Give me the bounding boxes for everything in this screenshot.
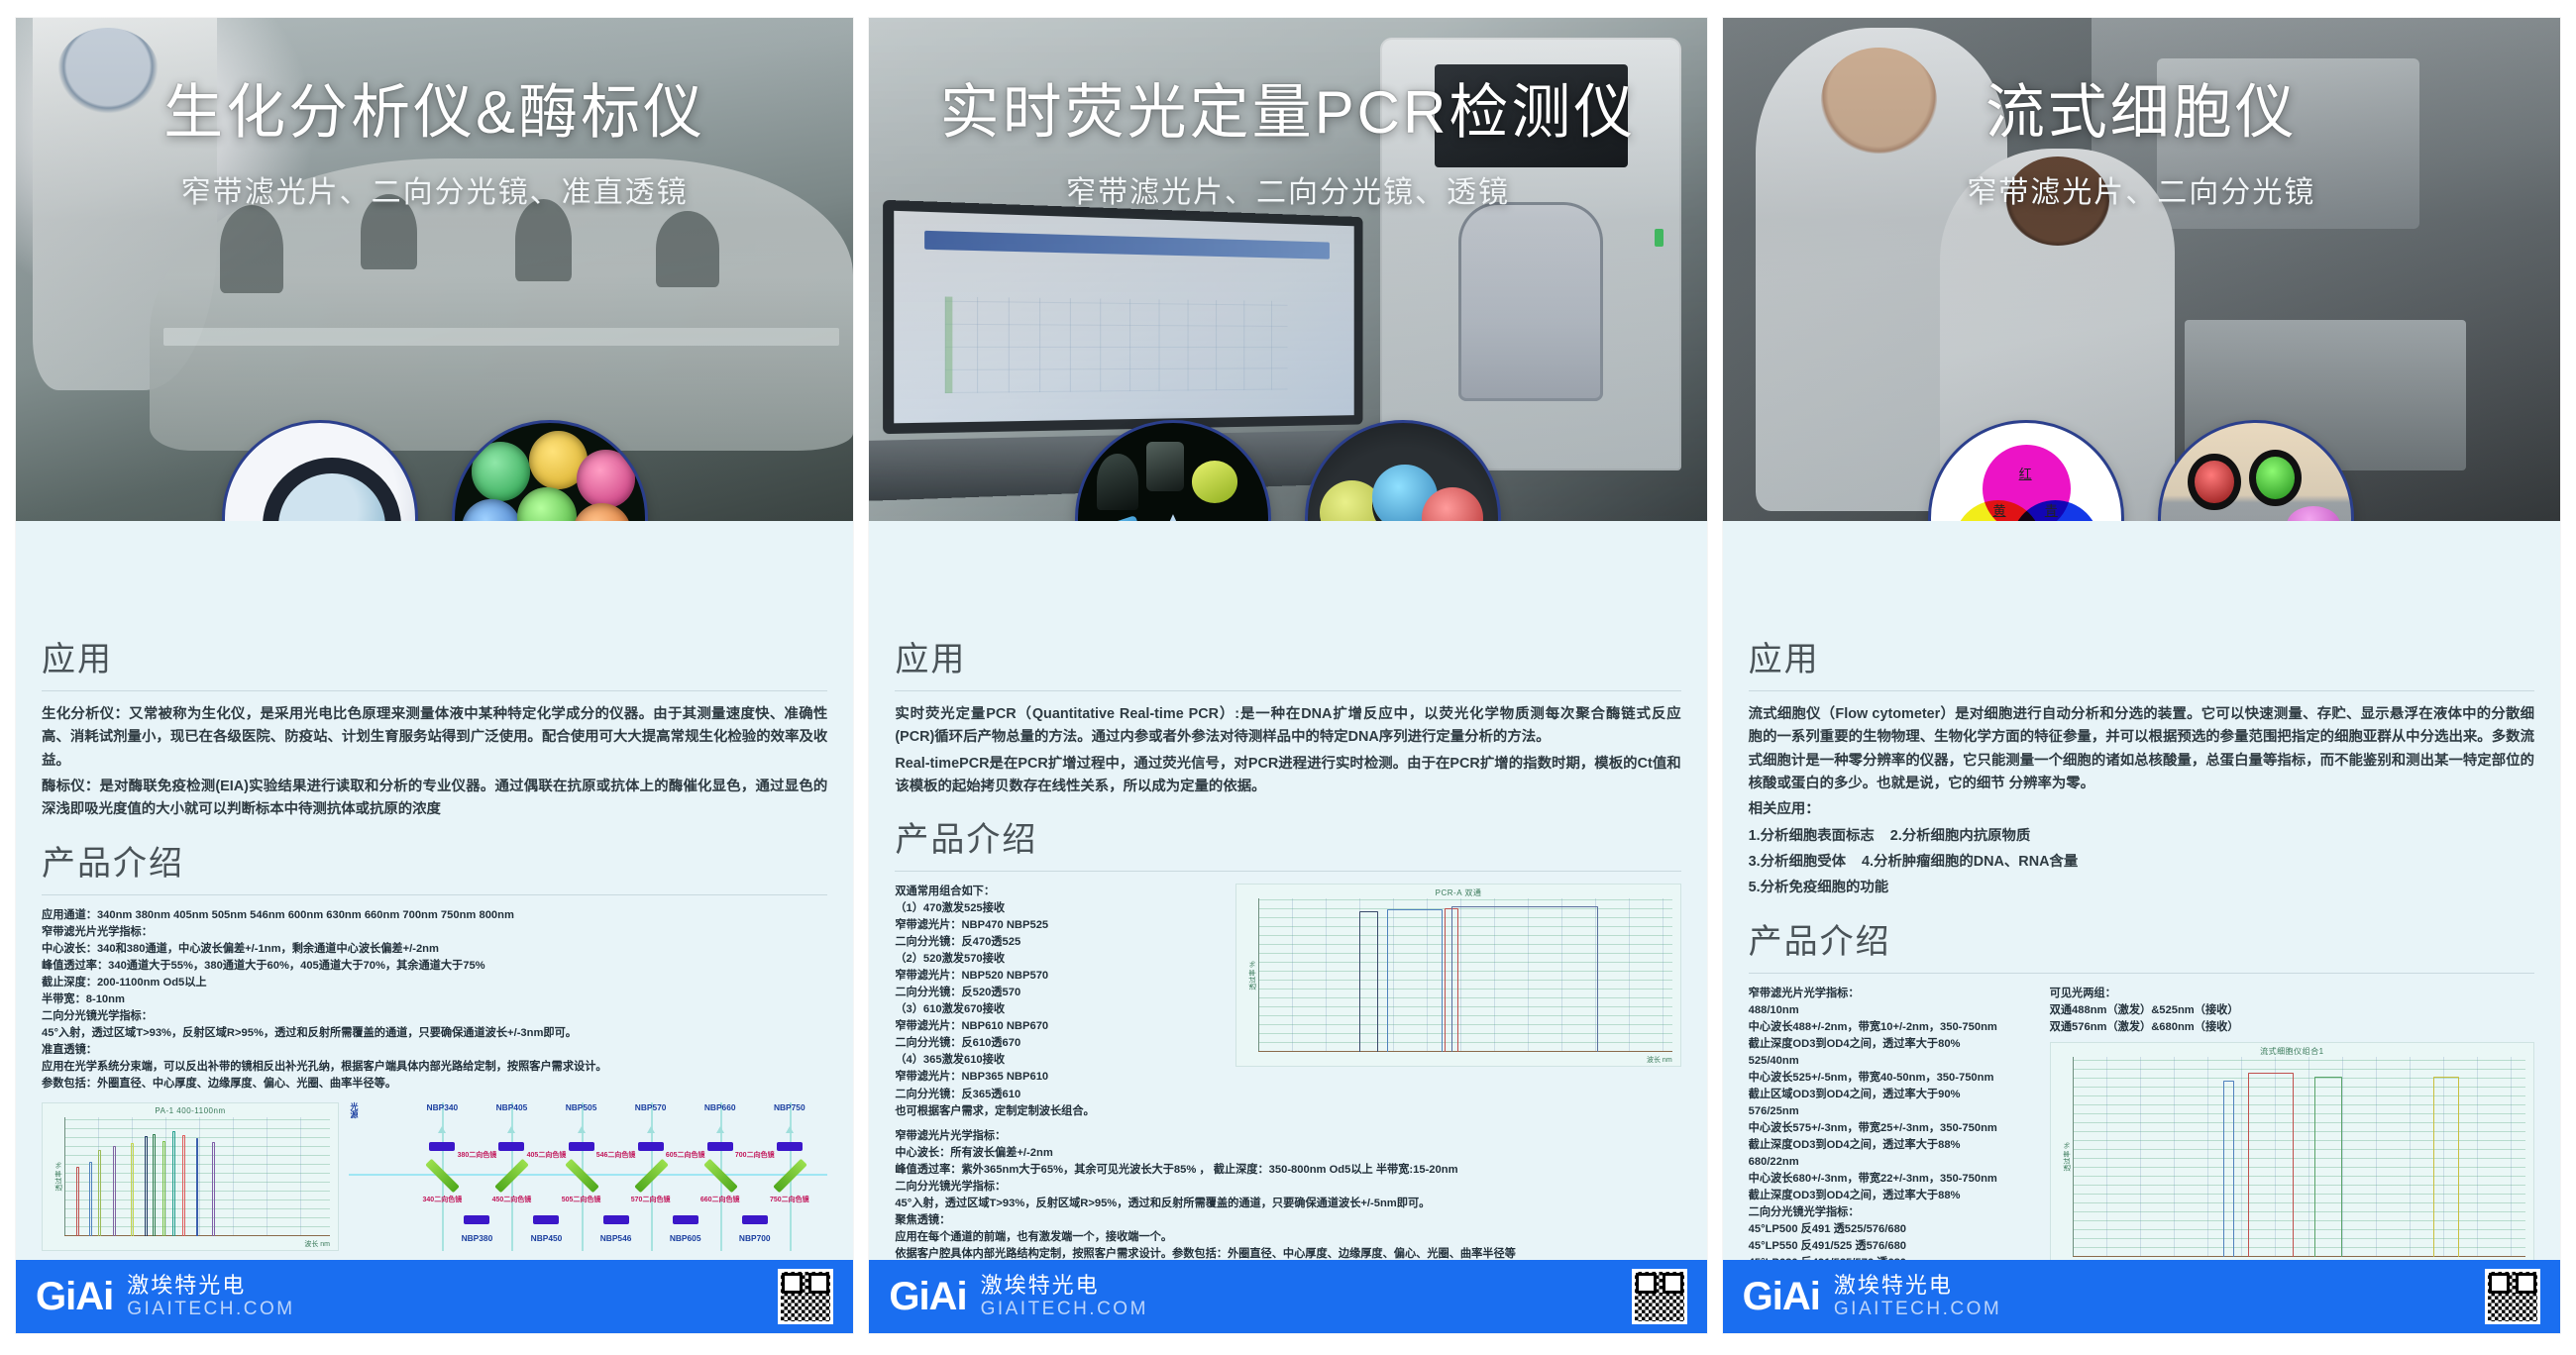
chart-peak [196, 1138, 199, 1235]
transmission-spectrum-chart: PA-1 400-1100nm 透过率 % 波长 nm [42, 1102, 339, 1251]
spec-line: 双通常用组合如下： [895, 884, 1222, 900]
panel-title: 生化分析仪&酶标仪 [40, 79, 829, 146]
poster-stage: 生化分析仪&酶标仪 窄带滤光片、二向分光镜、准直透镜 应用 生化分析仪：又常被称… [0, 0, 2576, 1355]
beam-arrow-icon [578, 1126, 586, 1133]
chart-y-axis [2073, 1057, 2074, 1257]
chart-plot-area [1258, 898, 1671, 1052]
hero-flow-cytometer: 流式细胞仪 窄带滤光片、二向分光镜 红 绿 蓝 黄 青 白 [1723, 18, 2560, 521]
brand-logo: GiAi 激埃特光电 GIAITECH.COM [889, 1274, 1148, 1319]
rgb-venn-diagram: 红 绿 蓝 黄 青 白 [1951, 442, 2103, 521]
chart-y-axis [1258, 898, 1259, 1052]
spec-line: 双通488nm（激发）&525nm（接收） [2050, 1002, 2534, 1019]
spec-line: 窄带滤光片光学指标： [1749, 986, 2036, 1002]
chart-plot-area [64, 1117, 330, 1236]
spec-line: 二向分光镜：反610透670 [895, 1035, 1222, 1052]
channel-label-top: NBP340 [427, 1102, 459, 1112]
panel-body-pcr: 应用 实时荧光定量PCR（Quantitative Real-time PCR）… [869, 521, 1706, 1260]
product-heading: 产品介绍 [42, 836, 827, 885]
product-circle-photos [869, 420, 1706, 521]
list-item: 1.分析细胞表面标志 2.分析细胞内抗原物质 [1749, 825, 2534, 848]
spec-line: 45°入射，透过区域T>93%，反射区域R>95%，透过和反射所需覆盖的通道，只… [42, 1025, 827, 1042]
chart-ylabel: 透过率 % [54, 1162, 64, 1191]
spec-line: 双通576nm（激发）&680nm（接收） [2050, 1019, 2534, 1036]
spec-line: 半带宽：8-10nm [42, 991, 827, 1008]
narrowband-filter-block [673, 1215, 698, 1224]
qr-code[interactable] [778, 1269, 833, 1324]
narrowband-filter-block [777, 1142, 803, 1151]
spec-line: 峰值透过率：紫外365nm大于65%，其余可见光波长大于85% ， 截止深度：3… [895, 1162, 1680, 1179]
dichroic-mirror-label: 450二向色镜 [492, 1195, 532, 1204]
divider [895, 871, 1680, 872]
beam-arrow-icon [647, 1126, 655, 1133]
spec-line: 应用在每个通道的前端，也有激发端一个，接收端一个。 [895, 1229, 1680, 1246]
spec-list-pcr: 双通常用组合如下：（1）470激发525接收窄带滤光片：NBP470 NBP52… [895, 884, 1222, 1119]
beam-arrow-icon [716, 1126, 724, 1133]
brand-logo: GiAi 激埃特光电 GIAITECH.COM [1743, 1274, 2002, 1319]
spec-line: 576/25nm [1749, 1103, 2036, 1120]
divider [895, 690, 1680, 691]
spec-line: 应用在光学系统分束端，可以反出补带的镜相反出补光孔纳，根据客户端具体内部光路给定… [42, 1059, 827, 1076]
spec-line: 中心波长680+/-3nm，带宽22+/-3nm，350-750nm [1749, 1171, 2036, 1188]
chart-peak [113, 1146, 116, 1236]
chart-title: PCR-A 双通 [1236, 887, 1679, 898]
spec-line: 参数包括：外圈直径、中心厚度、边缘厚度、偏心、光圈、曲率半径等。 [42, 1076, 827, 1093]
product-photo-rgb-venn: 红 绿 蓝 黄 青 白 [1928, 420, 2124, 521]
spec-line: 窄带滤光片：NBP520 NBP570 [895, 968, 1222, 985]
dichroic-mirror-label: 750二向色镜 [770, 1195, 809, 1204]
spec-line: 中心波长：340和380通道，中心波长偏差+/-1nm，剩余通道中心波长偏差+/… [42, 941, 827, 958]
chart-title: PA-1 400-1100nm [43, 1106, 338, 1115]
chart-xlabel: 波长 nm [1647, 1055, 1672, 1065]
narrowband-filter-block [533, 1215, 559, 1224]
application-paragraph: Real-timePCR是在PCR扩增过程中，通过荧光信号，对PCR进程进行实时… [895, 753, 1680, 799]
chart-ylabel: 透过率 % [1248, 961, 1258, 990]
spec-line: 准直透镜： [42, 1042, 827, 1059]
transmission-spectrum-chart: PCR-A 双通 透过率 % 波长 nm [1235, 884, 1680, 1067]
spec-line: （3）610激发670接收 [895, 1001, 1222, 1018]
product-photo-bench-filters [2158, 420, 2354, 521]
chart-peak [145, 1136, 148, 1236]
spec-line: 525/40nm [1749, 1053, 2036, 1070]
spec-line: 应用通道：340nm 380nm 405nm 505nm 546nm 600nm… [42, 907, 827, 924]
brand-name-cn: 激埃特光电 [1834, 1274, 2001, 1299]
spec-line: 截止深度OD3到OD4之间，透过率大于80% [1749, 1036, 2036, 1053]
chart-peak [2314, 1077, 2343, 1257]
product-photo-stacked-filters [1305, 420, 1501, 521]
spec-line: 680/22nm [1749, 1154, 2036, 1171]
spec-line: 二向分光镜：反470透525 [895, 934, 1222, 951]
channel-label-bottom: NBP700 [739, 1233, 771, 1243]
narrowband-filter-block [742, 1215, 768, 1224]
transmission-spectrum-chart: 流式细胞仪组合1 透过率 % 波长 nm [2050, 1042, 2534, 1260]
dichroic-mirror-label: 380二向色镜 [458, 1150, 497, 1160]
brand-name-cn: 激埃特光电 [981, 1274, 1148, 1299]
spec-list-cytometer: 窄带滤光片光学指标：488/10nm中心波长488+/-2nm，带宽10+/-2… [1749, 986, 2036, 1260]
right-column-cytometer: 可见光两组：双通488nm（激发）&525nm（接收）双通576nm（激发）&6… [2050, 986, 2534, 1260]
chart-peak [182, 1135, 185, 1236]
panel-flow-cytometer: 流式细胞仪 窄带滤光片、二向分光镜 红 绿 蓝 黄 青 白 [1723, 18, 2560, 1333]
channel-label-bottom: NBP605 [670, 1233, 701, 1243]
brand-name-en: GIAITECH.COM [127, 1299, 294, 1319]
chart-peak [1451, 906, 1598, 1052]
panel-realtime-pcr: 实时荧光定量PCR检测仪 窄带滤光片、二向分光镜、透镜 应用 实时荧光定量PCR… [869, 18, 1706, 1333]
chart-title: 流式细胞仪组合1 [2051, 1046, 2533, 1057]
chart-peak [153, 1134, 156, 1236]
spec-line: 窄带滤光片：NBP610 NBP670 [895, 1018, 1222, 1035]
spec-line: 中心波长575+/-3nm，带宽25+/-3nm，350-750nm [1749, 1120, 2036, 1137]
brand-logo: GiAi 激埃特光电 GIAITECH.COM [36, 1274, 295, 1319]
product-circle-photos: 红 绿 蓝 黄 青 白 [1723, 420, 2560, 521]
chart-peak [1359, 911, 1378, 1053]
brand-name-en: GIAITECH.COM [1834, 1299, 2001, 1319]
spec-line: 45°入射，透过区域T>93%，反射区域R>95%，透过和反射所需覆盖的通道，只… [895, 1196, 1680, 1212]
related-applications-list: 1.分析细胞表面标志 2.分析细胞内抗原物质3.分析细胞受体 4.分析肿瘤细胞的… [1749, 825, 2534, 900]
qr-code[interactable] [2485, 1269, 2540, 1324]
divider [1749, 690, 2534, 691]
brand-name-cn: 激埃特光电 [127, 1274, 294, 1299]
light-source-label: 光源 [349, 1102, 360, 1118]
narrowband-filter-block [464, 1215, 489, 1224]
spec-list-visible-light-groups: 可见光两组：双通488nm（激发）&525nm（接收）双通576nm（激发）&6… [2050, 986, 2534, 1036]
spec-line: 峰值透过率：340通道大于55%，380通道大于60%，405通道大于70%，其… [42, 958, 827, 975]
channel-label-top: NBP405 [496, 1102, 528, 1112]
dichroic-mirror-label: 570二向色镜 [631, 1195, 671, 1204]
chart-plot-area [2073, 1057, 2525, 1257]
spec-line: 截止深度OD3到OD4之间，透过率大于88% [1749, 1137, 2036, 1154]
spec-line: 截止深度：200-1100nm Od5以上 [42, 975, 827, 991]
spec-line: 窄带滤光片光学指标： [42, 924, 827, 941]
spec-line: 45°LP500 反491 透525/576/680 [1749, 1221, 2036, 1238]
hero-realtime-pcr: 实时荧光定量PCR检测仪 窄带滤光片、二向分光镜、透镜 [869, 18, 1706, 521]
beam-arrow-icon [438, 1126, 446, 1133]
product-photo-color-filters [452, 420, 648, 521]
list-item: 3.分析细胞受体 4.分析肿瘤细胞的DNA、RNA含量 [1749, 851, 2534, 874]
spec-list-biochemical: 应用通道：340nm 380nm 405nm 505nm 546nm 600nm… [42, 907, 827, 1093]
spec-line: 45°LP550 反491/525 透576/680 [1749, 1238, 2036, 1255]
spec-line: （2）520激发570接收 [895, 951, 1222, 968]
product-heading: 产品介绍 [1749, 914, 2534, 963]
chart-peak [2433, 1077, 2458, 1257]
panel-body-biochemical: 应用 生化分析仪：又常被称为生化仪，是采用光电比色原理来测量体液中某种特定化学成… [16, 521, 853, 1260]
chart-peak [212, 1142, 215, 1236]
panel-title: 流式细胞仪 [1747, 79, 2536, 146]
spec-line: 二向分光镜光学指标： [42, 1008, 827, 1025]
product-photo-lens-assembly [222, 420, 418, 521]
spec-line: 二向分光镜：反365透610 [895, 1087, 1222, 1103]
spec-line: 窄带滤光片光学指标： [895, 1128, 1680, 1145]
venn-label-red: 红 [2019, 464, 2032, 482]
spec-line: 也可根据客户需求，定制定制波长组合。 [895, 1103, 1222, 1120]
hero-text-block: 实时荧光定量PCR检测仪 窄带滤光片、二向分光镜、透镜 [869, 79, 1706, 211]
spec-line: 中心波长：所有波长偏差+/-2nm [895, 1145, 1680, 1162]
dichroic-mirror-label: 405二向色镜 [527, 1150, 567, 1160]
spec-line: 窄带滤光片：NBP365 NBP610 [895, 1069, 1222, 1086]
panel-subtitle: 窄带滤光片、二向分光镜、透镜 [893, 167, 1682, 211]
divider [42, 894, 827, 895]
chart-peak [2248, 1073, 2294, 1257]
qr-code[interactable] [1632, 1269, 1687, 1324]
panel-biochemical-analyzer: 生化分析仪&酶标仪 窄带滤光片、二向分光镜、准直透镜 应用 生化分析仪：又常被称… [16, 18, 853, 1333]
application-heading: 应用 [42, 632, 827, 680]
divider [1749, 973, 2534, 974]
channel-label-top: NBP660 [704, 1102, 736, 1112]
product-circle-photos [16, 420, 853, 521]
hero-text-block: 流式细胞仪 窄带滤光片、二向分光镜 [1723, 79, 2560, 211]
brand-name-en: GIAITECH.COM [981, 1299, 1148, 1319]
spec-line: 488/10nm [1749, 1002, 2036, 1019]
spec-line: 可见光两组： [2050, 986, 2534, 1002]
chart-peak [98, 1150, 101, 1235]
divider [42, 690, 827, 691]
spec-and-chart-row: 窄带滤光片光学指标：488/10nm中心波长488+/-2nm，带宽10+/-2… [1749, 986, 2534, 1260]
dichroic-mirror-label: 340二向色镜 [423, 1195, 463, 1204]
spec-line: （1）470激发525接收 [895, 900, 1222, 917]
chart-xlabel: 波长 nm [304, 1239, 330, 1249]
chart-y-axis [64, 1117, 65, 1236]
footer-brand-bar: GiAi 激埃特光电 GIAITECH.COM [869, 1260, 1706, 1333]
dichroic-mirror-label: 546二向色镜 [596, 1150, 636, 1160]
application-heading: 应用 [895, 632, 1680, 680]
narrowband-filter-block [429, 1142, 455, 1151]
hero-text-block: 生化分析仪&酶标仪 窄带滤光片、二向分光镜、准直透镜 [16, 79, 853, 211]
channel-label-bottom: NBP450 [531, 1233, 563, 1243]
spec-line: 窄带滤光片：NBP470 NBP525 [895, 917, 1222, 934]
narrowband-filter-block [603, 1215, 629, 1224]
brand-mark: GiAi [36, 1277, 113, 1316]
footer-brand-bar: GiAi 激埃特光电 GIAITECH.COM [1723, 1260, 2560, 1333]
venn-label-m2: 青 [2045, 500, 2058, 519]
beam-arrow-icon [786, 1126, 794, 1133]
product-photo-filters-prisms [1075, 420, 1271, 521]
chart-peak [1387, 909, 1443, 1052]
application-paragraph: 生化分析仪：又常被称为生化仪，是采用光电比色原理来测量体液中某种特定化学成分的仪… [42, 703, 827, 773]
figures-row-biochemical: PA-1 400-1100nm 透过率 % 波长 nm 光源 NBP340340… [42, 1102, 827, 1251]
channel-label-bottom: NBP546 [600, 1233, 632, 1243]
panel-subtitle: 窄带滤光片、二向分光镜 [1747, 167, 2536, 211]
narrowband-filter-block [569, 1142, 594, 1151]
dichroic-mirror-label: 660二向色镜 [700, 1195, 740, 1204]
venn-label-m1: 黄 [1993, 500, 2006, 519]
panel-title: 实时荧光定量PCR检测仪 [893, 79, 1682, 146]
dichroic-mirror-label: 505二向色镜 [562, 1195, 601, 1204]
footer-brand-bar: GiAi 激埃特光电 GIAITECH.COM [16, 1260, 853, 1333]
chart-peak [172, 1131, 175, 1236]
spec-line: 二向分光镜光学指标： [1749, 1204, 2036, 1221]
narrowband-filter-block [707, 1142, 733, 1151]
chart-peak [89, 1162, 92, 1235]
beam-arrow-icon [507, 1126, 515, 1133]
channel-label-top: NBP570 [635, 1102, 667, 1112]
spec-line: 二向分光镜光学指标： [895, 1179, 1680, 1196]
chart-peak [131, 1143, 134, 1236]
optical-path-diagram: 光源 NBP340340二向色镜380二向色镜NBP380NBP405450二向… [349, 1102, 827, 1251]
brand-mark: GiAi [889, 1277, 966, 1316]
brand-mark: GiAi [1743, 1277, 1820, 1316]
application-paragraph: 实时荧光定量PCR（Quantitative Real-time PCR）:是一… [895, 703, 1680, 750]
channel-label-top: NBP505 [566, 1102, 597, 1112]
chart-peak [162, 1141, 165, 1236]
list-item: 5.分析免疫细胞的功能 [1749, 877, 2534, 899]
application-heading: 应用 [1749, 632, 2534, 680]
spec-line: 依据客户腔具体内部光路结构定制，按照客户需求设计。参数包括：外圈直径、中心厚度、… [895, 1246, 1680, 1260]
product-heading: 产品介绍 [895, 812, 1680, 861]
chart-peak [76, 1167, 79, 1236]
spec-list-pcr-optical: 窄带滤光片光学指标：中心波长：所有波长偏差+/-2nm峰值透过率：紫外365nm… [895, 1128, 1680, 1260]
chart-ylabel: 透过率 % [2062, 1142, 2072, 1171]
spec-line: （4）365激发610接收 [895, 1052, 1222, 1069]
spec-line: 中心波长488+/-2nm，带宽10+/-2nm，350-750nm [1749, 1019, 2036, 1036]
channel-label-bottom: NBP380 [462, 1233, 493, 1243]
application-paragraph: 酶标仪：是对酶联免疫检测(EIA)实验结果进行读取和分析的专业仪器。通过偶联在抗… [42, 776, 827, 822]
spec-and-chart-row: 双通常用组合如下：（1）470激发525接收窄带滤光片：NBP470 NBP52… [895, 884, 1680, 1119]
spec-line: 聚焦透镜： [895, 1212, 1680, 1229]
panel-subtitle: 窄带滤光片、二向分光镜、准直透镜 [40, 167, 829, 211]
spec-line: 二向分光镜：反520透570 [895, 985, 1222, 1001]
spec-line: 截止深度OD3到OD4之间，透过率大于88% [1749, 1188, 2036, 1204]
chart-peak [2223, 1081, 2234, 1257]
channel-label-top: NBP750 [774, 1102, 805, 1112]
dichroic-mirror-label: 605二向色镜 [666, 1150, 705, 1160]
dichroic-mirror-label: 700二向色镜 [735, 1150, 775, 1160]
spec-line: 中心波长525+/-5nm，带宽40-50nm，350-750nm [1749, 1070, 2036, 1087]
hero-biochemical-analyzer: 生化分析仪&酶标仪 窄带滤光片、二向分光镜、准直透镜 [16, 18, 853, 521]
narrowband-filter-block [638, 1142, 664, 1151]
spec-line: 截止区域OD3到OD4之间，透过率大于90% [1749, 1087, 2036, 1103]
related-heading: 相关应用： [1749, 798, 2534, 821]
application-paragraph: 流式细胞仪（Flow cytometer）是对细胞进行自动分析和分选的装置。它可… [1749, 703, 2534, 795]
panel-body-cytometer: 应用 流式细胞仪（Flow cytometer）是对细胞进行自动分析和分选的装置… [1723, 521, 2560, 1260]
narrowband-filter-block [498, 1142, 524, 1151]
